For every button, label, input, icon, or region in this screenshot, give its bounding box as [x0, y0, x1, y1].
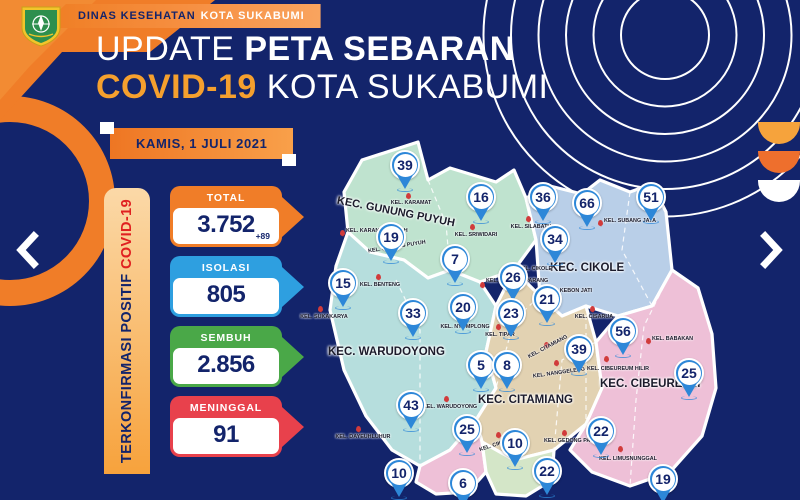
case-pin-cikole-66[interactable]: 66: [572, 188, 602, 230]
village-label-sriwidari: KEL. SRIWIDARI: [450, 232, 502, 238]
village-dot-sriwidari: [470, 224, 475, 230]
date-chip-tick-bottom: [282, 154, 296, 166]
case-pin-value: 26: [502, 266, 525, 289]
pin-shadow: [455, 330, 471, 334]
pin-shadow: [499, 388, 515, 392]
pin-tail: [571, 359, 587, 373]
pin-tail: [447, 269, 463, 283]
case-pin-cibeureum-19[interactable]: 19: [648, 464, 678, 500]
case-pin-value: 20: [452, 296, 475, 319]
stat-body-sembuh: 2.856: [173, 348, 279, 384]
pin-tail: [473, 375, 489, 389]
stat-title-meninggal: MENINGGAL: [173, 399, 279, 418]
stat-card-total[interactable]: TOTAL 3.752 +89: [170, 186, 282, 247]
pin-tail: [655, 489, 671, 500]
pin-shadow: [681, 396, 697, 400]
pin-shadow: [539, 322, 555, 326]
case-pin-cikole-21[interactable]: 21: [532, 284, 562, 326]
pin-tail: [397, 175, 413, 189]
case-pin-cikole-51[interactable]: 51: [636, 182, 666, 224]
case-pin-value: 5: [470, 354, 493, 377]
case-pin-cikole-36[interactable]: 36: [528, 182, 558, 224]
village-dot-sukakarya: [318, 306, 323, 312]
stat-arrow-isolasi: [282, 267, 304, 307]
pin-tail: [473, 207, 489, 221]
pin-shadow: [579, 226, 595, 230]
case-pin-value: 39: [394, 154, 417, 177]
case-pin-warudoyong-15[interactable]: 15: [328, 268, 358, 310]
case-pin-citamiang-39[interactable]: 39: [564, 334, 594, 376]
case-pin-cibeureum-22[interactable]: 22: [586, 416, 616, 458]
stat-value-sembuh: 2.856: [173, 353, 279, 377]
pin-tail: [615, 341, 631, 355]
stat-card-isolasi[interactable]: ISOLASI 805: [170, 256, 282, 317]
case-pin-value: 8: [496, 354, 519, 377]
case-pin-value: 34: [544, 228, 567, 251]
village-label-sukakarya: KEL. SUKAKARYA: [296, 314, 352, 320]
title-line-2: COVID-19 KOTA SUKABUMI: [96, 68, 548, 106]
stat-arrow-meninggal: [282, 407, 304, 447]
district-label-citamiang: KEC. CITAMIANG: [478, 394, 573, 406]
case-pin-value: 22: [590, 420, 613, 443]
statistics-column: TOTAL 3.752 +89 ISOLASI 805 SEMBUH 2.856…: [170, 186, 282, 466]
stat-body-isolasi: 805: [173, 278, 279, 314]
pin-tail: [539, 309, 555, 323]
village-dot-gunung-parang: [480, 282, 485, 288]
department-primary-label: DINAS KESEHATAN: [78, 10, 196, 22]
stat-value-meninggal: 91: [173, 423, 279, 447]
pin-shadow: [473, 388, 489, 392]
pin-tail: [455, 317, 471, 331]
pin-tail: [405, 323, 421, 337]
pin-tail: [535, 207, 551, 221]
case-pin-gunung-puyuh-19[interactable]: 19: [376, 222, 406, 264]
case-pin-value: 16: [470, 186, 493, 209]
title-peta-sebaran: PETA SEBARAN: [244, 30, 514, 68]
date-chip-tick-top: [100, 122, 114, 134]
village-dot-karang-tengah: [340, 230, 345, 236]
infographic-canvas: DINAS KESEHATAN KOTA SUKABUMI UPDATE PET…: [0, 0, 800, 500]
pin-tail: [383, 247, 399, 261]
stat-value-isolasi: 805: [173, 283, 279, 307]
pin-shadow: [459, 452, 475, 456]
case-pin-gunung-puyuh-16[interactable]: 16: [466, 182, 496, 224]
stat-arrow-sembuh: [282, 337, 304, 377]
pin-tail: [391, 483, 407, 497]
pin-shadow: [391, 496, 407, 500]
case-pin-value: 56: [612, 320, 635, 343]
case-pin-citamiang-10[interactable]: 10: [500, 428, 530, 470]
case-pin-citamiang-8[interactable]: 8: [492, 350, 522, 392]
case-pin-warudoyong-10[interactable]: 10: [384, 458, 414, 500]
pin-tail: [681, 383, 697, 397]
chevron-right-icon[interactable]: [756, 230, 786, 270]
case-pin-citamiang-23[interactable]: 23: [496, 298, 526, 340]
sukabumi-coat-of-arms-logo: [18, 4, 64, 48]
case-pin-cikole-34[interactable]: 34: [540, 224, 570, 266]
chevron-left-icon[interactable]: [12, 230, 42, 270]
date-badge: KAMIS, 1 JULI 2021: [110, 128, 293, 159]
stat-card-meninggal[interactable]: MENINGGAL 91: [170, 396, 282, 457]
case-pin-warudoyong-43[interactable]: 43: [396, 390, 426, 432]
pin-shadow: [547, 262, 563, 266]
pin-tail: [459, 439, 475, 453]
title-line-1: UPDATE PETA SEBARAN: [96, 30, 548, 68]
village-label-dayeuhluhur: KEL. DAYEUHLUHUR: [330, 434, 396, 440]
department-banner: DINAS KESEHATAN KOTA SUKABUMI: [40, 4, 321, 28]
case-pin-value: 6: [452, 472, 475, 495]
pin-tail: [593, 441, 609, 455]
village-dot-cisarua: [590, 306, 595, 312]
case-pin-value: 15: [332, 272, 355, 295]
village-dot-benteng: [376, 274, 381, 280]
case-pin-value: 25: [456, 418, 479, 441]
stat-title-isolasi: ISOLASI: [173, 259, 279, 278]
confirmed-positive-vertical-label: TERKONFIRMASI POSITIF COVID-19: [104, 188, 150, 474]
case-pin-value: 19: [652, 468, 675, 491]
stat-title-sembuh: SEMBUH: [173, 329, 279, 348]
village-label-warudoyong: KEL. WARUDOYONG: [422, 404, 478, 410]
case-pin-citamiang-6[interactable]: 6: [448, 468, 478, 500]
pin-tail: [503, 323, 519, 337]
vertical-label-accent: COVID-19: [119, 199, 135, 269]
case-pin-value: 39: [568, 338, 591, 361]
case-pin-value: 51: [640, 186, 663, 209]
department-secondary-label: KOTA SUKABUMI: [201, 10, 305, 22]
vertical-label-text: TERKONFIRMASI POSITIF COVID-19: [119, 199, 135, 463]
pin-shadow: [643, 220, 659, 224]
village-dot-gedong-panjang: [562, 430, 567, 436]
pin-shadow: [571, 372, 587, 376]
case-pin-cibeureum-56[interactable]: 56: [608, 316, 638, 358]
pin-shadow: [473, 220, 489, 224]
stat-body-total: 3.752 +89: [173, 208, 279, 244]
pin-tail: [403, 415, 419, 429]
title-kota-sukabumi: KOTA SUKABUMI: [257, 68, 549, 106]
pin-tail: [539, 481, 555, 495]
pin-shadow: [397, 188, 413, 192]
pin-shadow: [335, 306, 351, 310]
case-pin-warudoyong-33[interactable]: 33: [398, 298, 428, 340]
village-dot-nanggeleng: [554, 360, 559, 366]
stat-delta-total: +89: [256, 231, 270, 241]
case-pin-value: 25: [678, 362, 701, 385]
case-pin-value: 33: [402, 302, 425, 325]
pin-shadow: [405, 336, 421, 340]
pin-shadow: [447, 282, 463, 286]
case-pin-value: 43: [400, 394, 423, 417]
case-pin-value: 7: [444, 248, 467, 271]
pin-shadow: [539, 494, 555, 498]
village-dot-babakan: [646, 338, 651, 344]
pin-shadow: [507, 466, 523, 470]
case-pin-value: 10: [388, 462, 411, 485]
village-label-karamat: KEL. KARAMAT: [384, 200, 438, 206]
case-pin-warudoyong-25[interactable]: 25: [452, 414, 482, 456]
pin-tail: [579, 213, 595, 227]
pin-shadow: [503, 336, 519, 340]
case-pin-value: 19: [380, 226, 403, 249]
village-label-benteng: KEL. BENTENG: [354, 282, 406, 288]
pin-shadow: [383, 260, 399, 264]
case-pin-value: 66: [576, 192, 599, 215]
covid-distribution-map[interactable]: KEC. GUNUNG PUYUH KEC. CIKOLE KEC. WARUD…: [300, 120, 770, 500]
village-dot-karamat: [406, 193, 411, 199]
pin-shadow: [593, 454, 609, 458]
case-pin-warudoyong-20[interactable]: 20: [448, 292, 478, 334]
pin-tail: [547, 249, 563, 263]
vertical-label-plain: TERKONFIRMASI POSITIF: [119, 269, 135, 463]
pin-tail: [499, 375, 515, 389]
stat-arrow-total: [282, 197, 304, 237]
district-label-warudoyong: KEC. WARUDOYONG: [328, 346, 445, 358]
case-pin-value: 22: [536, 460, 559, 483]
pin-tail: [507, 453, 523, 467]
case-pin-value: 23: [500, 302, 523, 325]
title-covid19: COVID-19: [96, 68, 257, 106]
title-update-word: UPDATE: [96, 30, 244, 68]
case-pin-citamiang-22[interactable]: 22: [532, 456, 562, 498]
case-pin-value: 10: [504, 432, 527, 455]
case-pin-value: 21: [536, 288, 559, 311]
pin-shadow: [615, 354, 631, 358]
case-pin-cibeureum-25[interactable]: 25: [674, 358, 704, 400]
stat-title-total: TOTAL: [173, 189, 279, 208]
pin-tail: [335, 293, 351, 307]
stat-body-meninggal: 91: [173, 418, 279, 454]
stat-card-sembuh[interactable]: SEMBUH 2.856: [170, 326, 282, 387]
case-pin-value: 36: [532, 186, 555, 209]
pin-shadow: [403, 428, 419, 432]
village-dot-warudoyong: [444, 396, 449, 402]
case-pin-gunung-puyuh-39[interactable]: 39: [390, 150, 420, 192]
case-pin-gunung-puyuh-7[interactable]: 7: [440, 244, 470, 286]
page-title: UPDATE PETA SEBARAN COVID-19 KOTA SUKABU…: [96, 30, 548, 106]
village-dot-dayeuhluhur: [356, 426, 361, 432]
orange-ring-decoration: [0, 96, 115, 306]
village-dot-limusnunggal: [618, 446, 623, 452]
village-label-babakan: KEL. BABAKAN: [652, 336, 700, 342]
pin-tail: [643, 207, 659, 221]
